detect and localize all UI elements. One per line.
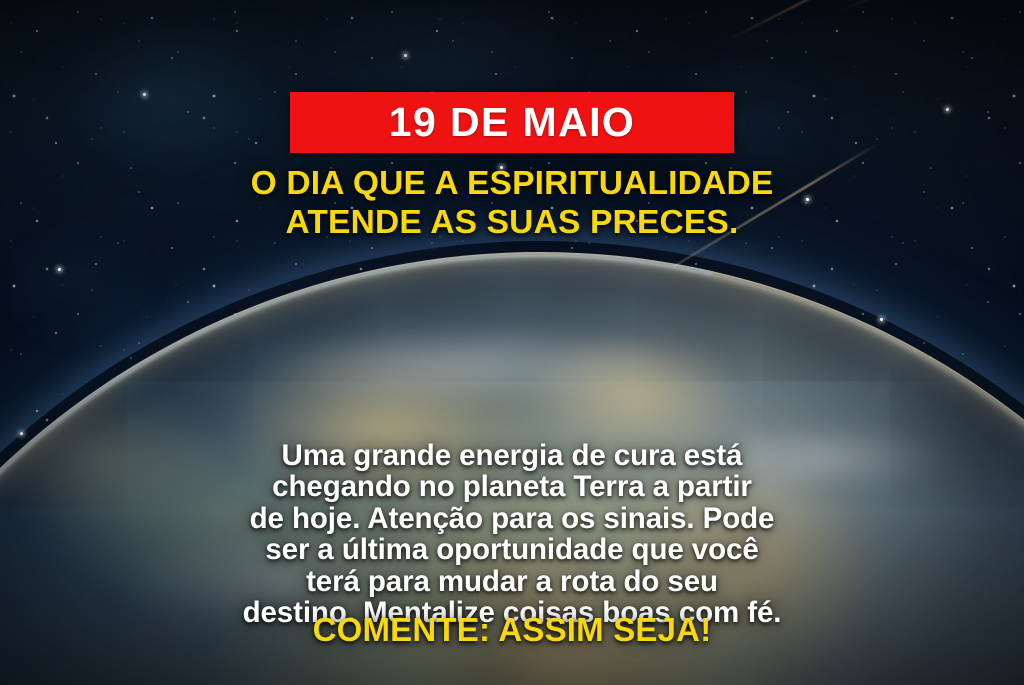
body-line-2: chegando no planeta Terra a partir (0, 471, 1024, 502)
headline: O DIA QUE A ESPIRITUALIDADE ATENDE AS SU… (0, 164, 1024, 242)
date-banner-text: 19 DE MAIO (389, 102, 635, 143)
poster-content: 19 DE MAIO O DIA QUE A ESPIRITUALIDADE A… (0, 0, 1024, 685)
body-line-1: Uma grande energia de cura está (0, 440, 1024, 471)
body-line-3: de hoje. Atenção para os sinais. Pode (0, 503, 1024, 534)
date-banner: 19 DE MAIO (290, 92, 734, 153)
body-line-5: terá para mudar a rota do seu (0, 566, 1024, 597)
body-copy: Uma grande energia de cura está chegando… (0, 440, 1024, 628)
headline-line-2: ATENDE AS SUAS PRECES. (0, 203, 1024, 242)
headline-line-1: O DIA QUE A ESPIRITUALIDADE (0, 164, 1024, 203)
body-line-4: ser a última oportunidade que você (0, 534, 1024, 565)
inspirational-poster: 19 DE MAIO O DIA QUE A ESPIRITUALIDADE A… (0, 0, 1024, 685)
call-to-action-text: COMENTE: ASSIM SEJA! (0, 612, 1024, 648)
